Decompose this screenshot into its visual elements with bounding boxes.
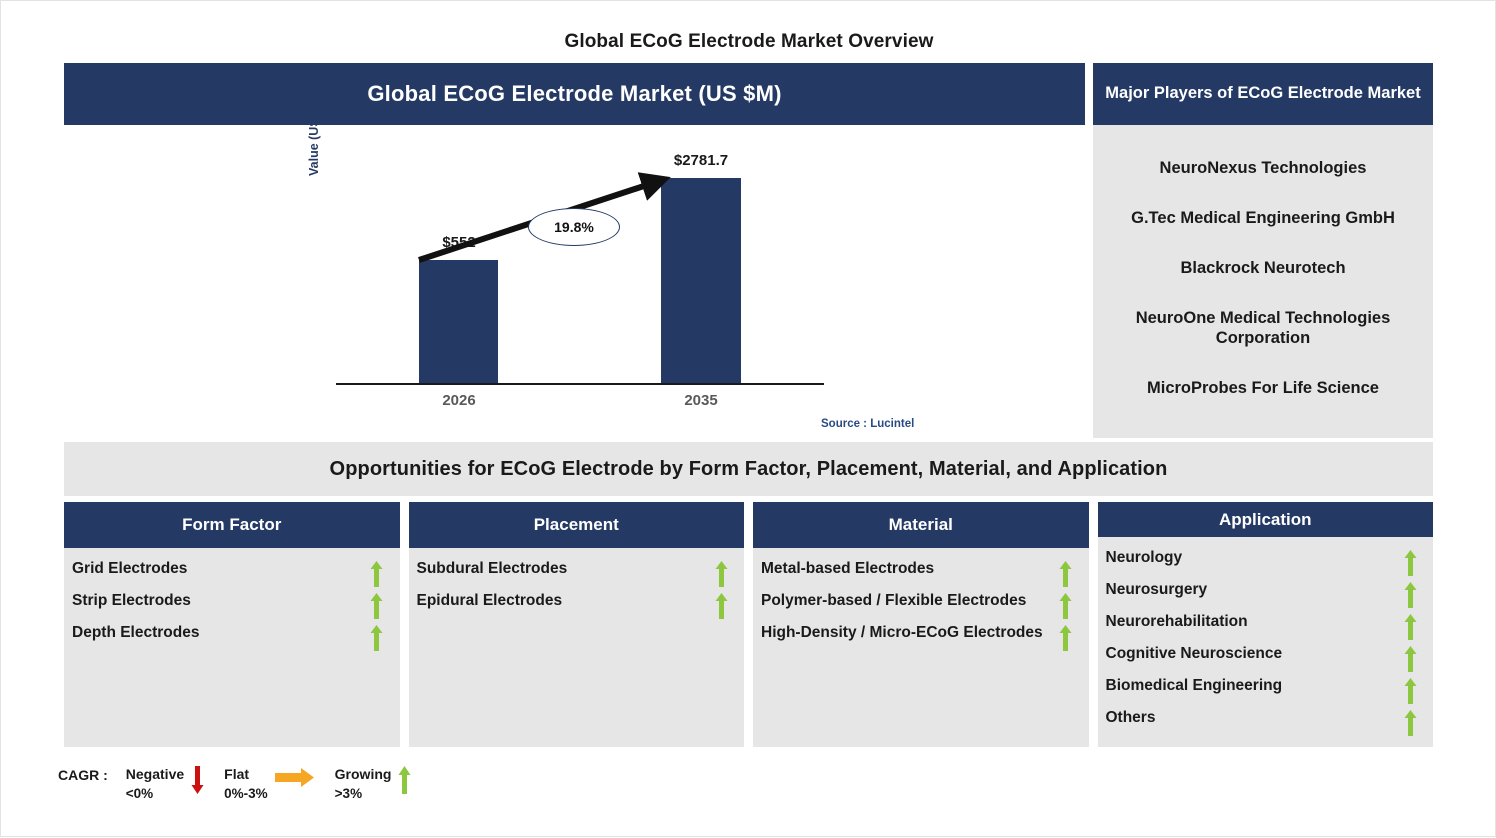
legend-label: Growing bbox=[335, 766, 392, 782]
column-list: Metal-based Electrodes Polymer-based / F… bbox=[753, 548, 1089, 747]
arrow-up-icon bbox=[362, 622, 392, 651]
legend-range: <0% bbox=[126, 786, 153, 801]
legend-entry-flat: Flat 0%-3% bbox=[224, 765, 317, 803]
list-item: Neurosurgery bbox=[1104, 579, 1426, 608]
arrow-up-icon bbox=[706, 590, 736, 619]
arrow-up-icon bbox=[398, 765, 411, 797]
list-item-label: Subdural Electrodes bbox=[415, 558, 568, 580]
list-item: Subdural Electrodes bbox=[415, 558, 737, 587]
list-item-label: Grid Electrodes bbox=[70, 558, 187, 580]
arrow-up-icon bbox=[1395, 707, 1425, 736]
list-item: Metal-based Electrodes bbox=[759, 558, 1081, 587]
major-players-panel: Major Players of ECoG Electrode Market N… bbox=[1093, 63, 1433, 438]
arrow-up-icon bbox=[362, 558, 392, 587]
cagr-bubble: 19.8% bbox=[528, 208, 620, 246]
list-item: NeuroNexus Technologies bbox=[1099, 158, 1427, 179]
list-item-label: Neurorehabilitation bbox=[1104, 611, 1248, 633]
list-item-label: Metal-based Electrodes bbox=[759, 558, 934, 580]
legend-entry-text: Growing >3% bbox=[335, 765, 392, 803]
bar-2026 bbox=[419, 260, 498, 383]
list-item: Neurology bbox=[1104, 547, 1426, 576]
cagr-legend: CAGR : Negative <0% Flat 0%-3% Growing >… bbox=[58, 765, 413, 803]
market-chart-panel: Global ECoG Electrode Market (US $M) bbox=[64, 63, 1085, 438]
column-header: Material bbox=[753, 502, 1089, 548]
list-item: High-Density / Micro-ECoG Electrodes bbox=[759, 622, 1081, 651]
arrow-up-icon bbox=[1395, 547, 1425, 576]
legend-entry-text: Flat 0%-3% bbox=[224, 765, 268, 803]
bar-value-2035: $2781.7 bbox=[651, 152, 751, 169]
list-item-label: Cognitive Neuroscience bbox=[1104, 643, 1283, 665]
list-item: Neurorehabilitation bbox=[1104, 611, 1426, 640]
list-item-label: Others bbox=[1104, 707, 1156, 729]
list-item-label: Neurosurgery bbox=[1104, 579, 1208, 601]
list-item: Blackrock Neurotech bbox=[1099, 258, 1427, 279]
list-item: NeuroOne Medical Technologies Corporatio… bbox=[1099, 308, 1427, 349]
column-header: Form Factor bbox=[64, 502, 400, 548]
list-item: Strip Electrodes bbox=[70, 590, 392, 619]
opportunities-band-title: Opportunities for ECoG Electrode by Form… bbox=[64, 442, 1433, 496]
list-item: Grid Electrodes bbox=[70, 558, 392, 587]
arrow-up-icon bbox=[362, 590, 392, 619]
list-item: MicroProbes For Life Science bbox=[1099, 378, 1427, 399]
page-title: Global ECoG Electrode Market Overview bbox=[1, 31, 1496, 53]
arrow-up-icon bbox=[1395, 643, 1425, 672]
arrow-right-icon bbox=[275, 765, 315, 793]
list-item: Depth Electrodes bbox=[70, 622, 392, 651]
legend-range: 0%-3% bbox=[224, 786, 268, 801]
list-item-label: Biomedical Engineering bbox=[1104, 675, 1283, 697]
legend-entry-text: Negative <0% bbox=[126, 765, 184, 803]
arrow-up-icon bbox=[1051, 622, 1081, 651]
source-note: Source : Lucintel bbox=[821, 418, 914, 430]
column-header: Placement bbox=[409, 502, 745, 548]
arrow-up-icon bbox=[706, 558, 736, 587]
column-form-factor: Form Factor Grid Electrodes Strip Electr… bbox=[64, 502, 400, 747]
bar-category-2026: 2026 bbox=[409, 392, 509, 409]
chart-panel-header: Global ECoG Electrode Market (US $M) bbox=[64, 63, 1085, 125]
column-material: Material Metal-based Electrodes Polymer-… bbox=[753, 502, 1089, 747]
bar-2035 bbox=[661, 178, 741, 383]
bar-category-2035: 2035 bbox=[651, 392, 751, 409]
arrow-up-icon bbox=[1395, 675, 1425, 704]
opportunity-columns: Form Factor Grid Electrodes Strip Electr… bbox=[64, 502, 1433, 747]
list-item-label: Strip Electrodes bbox=[70, 590, 191, 612]
cagr-legend-title: CAGR : bbox=[58, 765, 108, 783]
list-item-label: Depth Electrodes bbox=[70, 622, 199, 644]
chart-y-axis-label: Value (US $M) bbox=[307, 93, 321, 176]
column-placement: Placement Subdural Electrodes Epidural E… bbox=[409, 502, 745, 747]
list-item: Biomedical Engineering bbox=[1104, 675, 1426, 704]
column-list: Subdural Electrodes Epidural Electrodes bbox=[409, 548, 745, 747]
infographic-root: Global ECoG Electrode Market Overview Gl… bbox=[1, 1, 1496, 838]
list-item-label: High-Density / Micro-ECoG Electrodes bbox=[759, 622, 1043, 644]
arrow-up-icon bbox=[1051, 590, 1081, 619]
legend-entry-growing: Growing >3% bbox=[335, 765, 414, 803]
list-item: Others bbox=[1104, 707, 1426, 736]
list-item: Epidural Electrodes bbox=[415, 590, 737, 619]
cagr-value: 19.8% bbox=[554, 219, 594, 235]
major-players-header: Major Players of ECoG Electrode Market bbox=[1093, 63, 1433, 125]
list-item-label: Neurology bbox=[1104, 547, 1183, 569]
arrow-up-icon bbox=[1395, 611, 1425, 640]
arrow-down-icon bbox=[191, 765, 204, 797]
major-players-list: NeuroNexus Technologies G.Tec Medical En… bbox=[1093, 125, 1433, 438]
legend-label: Negative bbox=[126, 766, 184, 782]
legend-label: Flat bbox=[224, 766, 249, 782]
legend-range: >3% bbox=[335, 786, 362, 801]
chart-plot-area bbox=[64, 125, 1085, 438]
list-item: Cognitive Neuroscience bbox=[1104, 643, 1426, 672]
list-item-label: Epidural Electrodes bbox=[415, 590, 563, 612]
column-list: Neurology Neurosurgery Neurorehabilitati… bbox=[1098, 537, 1434, 747]
bar-value-2026: $552 bbox=[409, 234, 509, 251]
arrow-up-icon bbox=[1051, 558, 1081, 587]
arrow-up-icon bbox=[1395, 579, 1425, 608]
list-item: Polymer-based / Flexible Electrodes bbox=[759, 590, 1081, 619]
column-application: Application Neurology Neurosurgery Neuro… bbox=[1098, 502, 1434, 747]
column-header: Application bbox=[1098, 502, 1434, 537]
chart-x-axis-line bbox=[336, 383, 824, 385]
list-item: G.Tec Medical Engineering GmbH bbox=[1099, 208, 1427, 229]
column-list: Grid Electrodes Strip Electrodes Depth E… bbox=[64, 548, 400, 747]
list-item-label: Polymer-based / Flexible Electrodes bbox=[759, 590, 1026, 612]
legend-entry-negative: Negative <0% bbox=[126, 765, 206, 803]
